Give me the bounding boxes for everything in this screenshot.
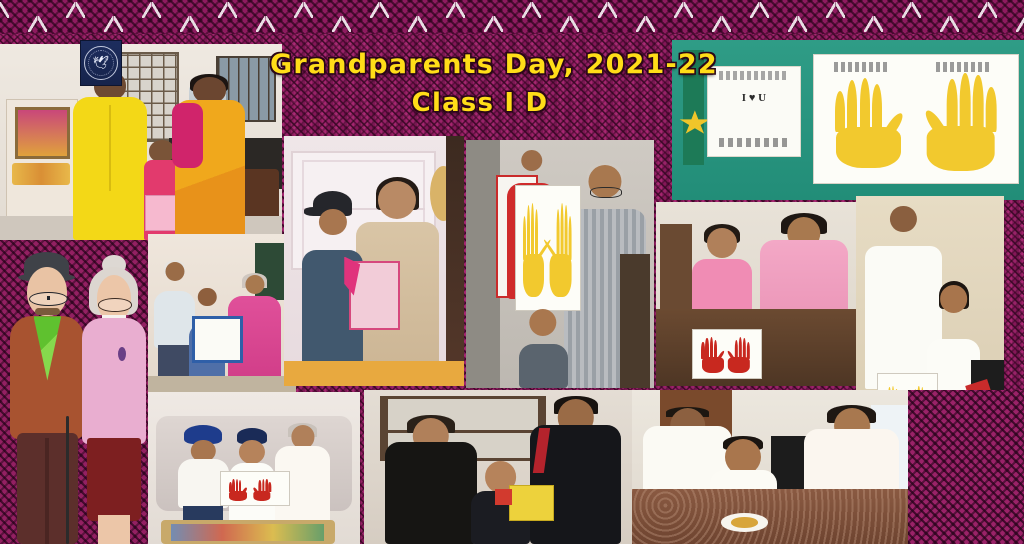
school-crest: 🕊 bbox=[80, 40, 122, 86]
chevron-motif bbox=[104, 16, 123, 32]
chevron-motif bbox=[256, 16, 275, 32]
handprint-shape bbox=[830, 78, 908, 168]
note-heart-text: I ♥ U bbox=[723, 92, 785, 112]
photo-boy-grandparents-framed-art bbox=[148, 234, 296, 392]
chevron-motif bbox=[940, 16, 959, 32]
chevron-motif bbox=[1016, 16, 1024, 32]
chevron-motif bbox=[636, 16, 655, 32]
chevron-motif bbox=[180, 16, 199, 32]
chevron-motif bbox=[864, 16, 883, 32]
handprint-shape bbox=[726, 337, 752, 372]
chevron-motif bbox=[788, 16, 807, 32]
chevron-motif bbox=[560, 16, 579, 32]
chevron-motif bbox=[332, 16, 351, 32]
handprint-shape bbox=[548, 203, 574, 297]
bird-emblem-icon: 🕊 bbox=[93, 57, 110, 70]
grandparents-day-collage: I ♥ U bbox=[0, 0, 1024, 544]
handprint-shape bbox=[252, 479, 272, 501]
photo-girl-grandmother-red-handprints bbox=[656, 202, 856, 386]
background-strip-bottom-right bbox=[908, 390, 1024, 544]
chevron-motif bbox=[28, 16, 47, 32]
chevron-border-top bbox=[0, 0, 1024, 34]
photo-family-feeding-child-table bbox=[632, 390, 910, 544]
photo-family-black-outfits-card bbox=[364, 390, 632, 544]
chevron-motif bbox=[408, 16, 427, 32]
handprint-shape bbox=[920, 73, 1002, 170]
photo-sikh-family-sofa bbox=[148, 392, 360, 544]
chevron-motif bbox=[484, 16, 503, 32]
handprint-shape bbox=[521, 203, 547, 297]
handprint-shape bbox=[228, 479, 248, 501]
i-love-you-note: I ♥ U bbox=[707, 66, 801, 158]
chevron-motif bbox=[712, 16, 731, 32]
photo-green-board-handprint-posters: I ♥ U bbox=[672, 40, 1024, 200]
photo-grandparents-yellow-kurta bbox=[0, 44, 282, 240]
photo-boy-cap-with-grandmother bbox=[284, 136, 464, 386]
photo-grandfather-holding-handprint-sheet bbox=[466, 140, 654, 388]
illustration-cartoon-elderly-couple bbox=[0, 240, 148, 544]
handprint-shape bbox=[700, 337, 726, 372]
handprint-poster bbox=[813, 54, 1019, 184]
